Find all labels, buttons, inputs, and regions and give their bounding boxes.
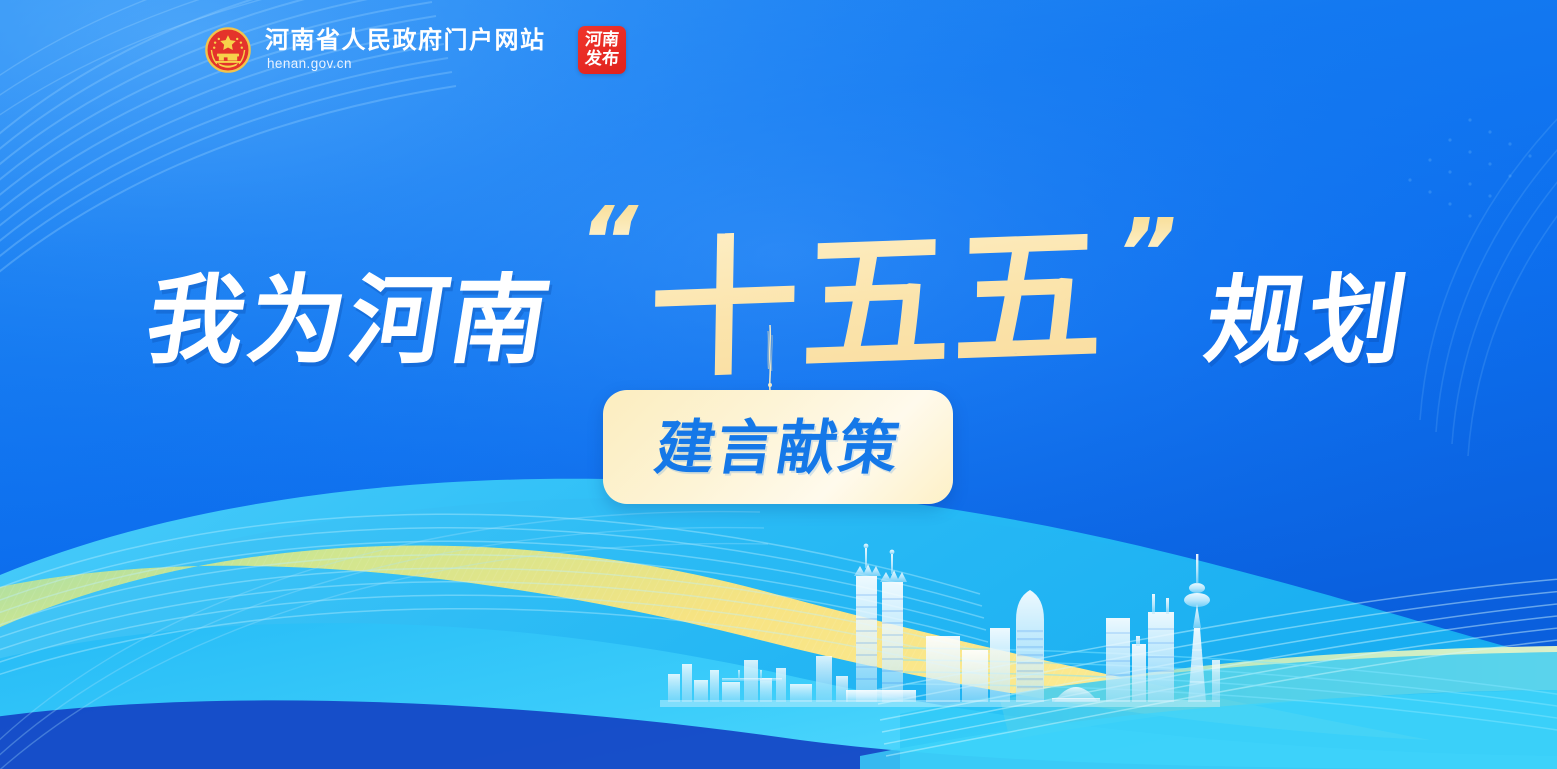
page-title: 我为河南 “ 十五五 ” 规划 <box>0 222 1557 418</box>
zhengzhou-skyline-illustration <box>660 532 1220 707</box>
calligraphy-text: 十五五 <box>644 220 1110 386</box>
quote-open-icon: “ <box>570 194 650 290</box>
ink-drip-decoration <box>765 325 775 395</box>
site-header[interactable]: 河南省人民政府门户网站 henan.gov.cn 河南 发布 <box>205 26 626 74</box>
site-identity: 河南省人民政府门户网站 henan.gov.cn <box>265 28 546 71</box>
headline-right: 规划 <box>1199 272 1416 369</box>
cta-label: 建言献策 <box>651 418 904 477</box>
site-url: henan.gov.cn <box>267 57 546 72</box>
henan-release-badge[interactable]: 河南 发布 <box>578 26 626 74</box>
submit-suggestion-button[interactable]: 建言献策 <box>603 390 953 504</box>
henan-five-year-plan-banner: 河南省人民政府门户网站 henan.gov.cn 河南 发布 我为河南 “ 十五… <box>0 0 1557 769</box>
quote-close-icon: ” <box>1105 206 1185 302</box>
calligraphy-group: “ 十五五 ” <box>578 188 1176 418</box>
national-emblem-icon <box>205 27 251 73</box>
badge-line-1: 河南 <box>584 32 619 49</box>
background-decoration <box>0 0 1557 769</box>
badge-line-2: 发布 <box>584 51 619 68</box>
site-name: 河南省人民政府门户网站 <box>265 28 546 54</box>
headline-left: 我为河南 <box>141 272 560 369</box>
